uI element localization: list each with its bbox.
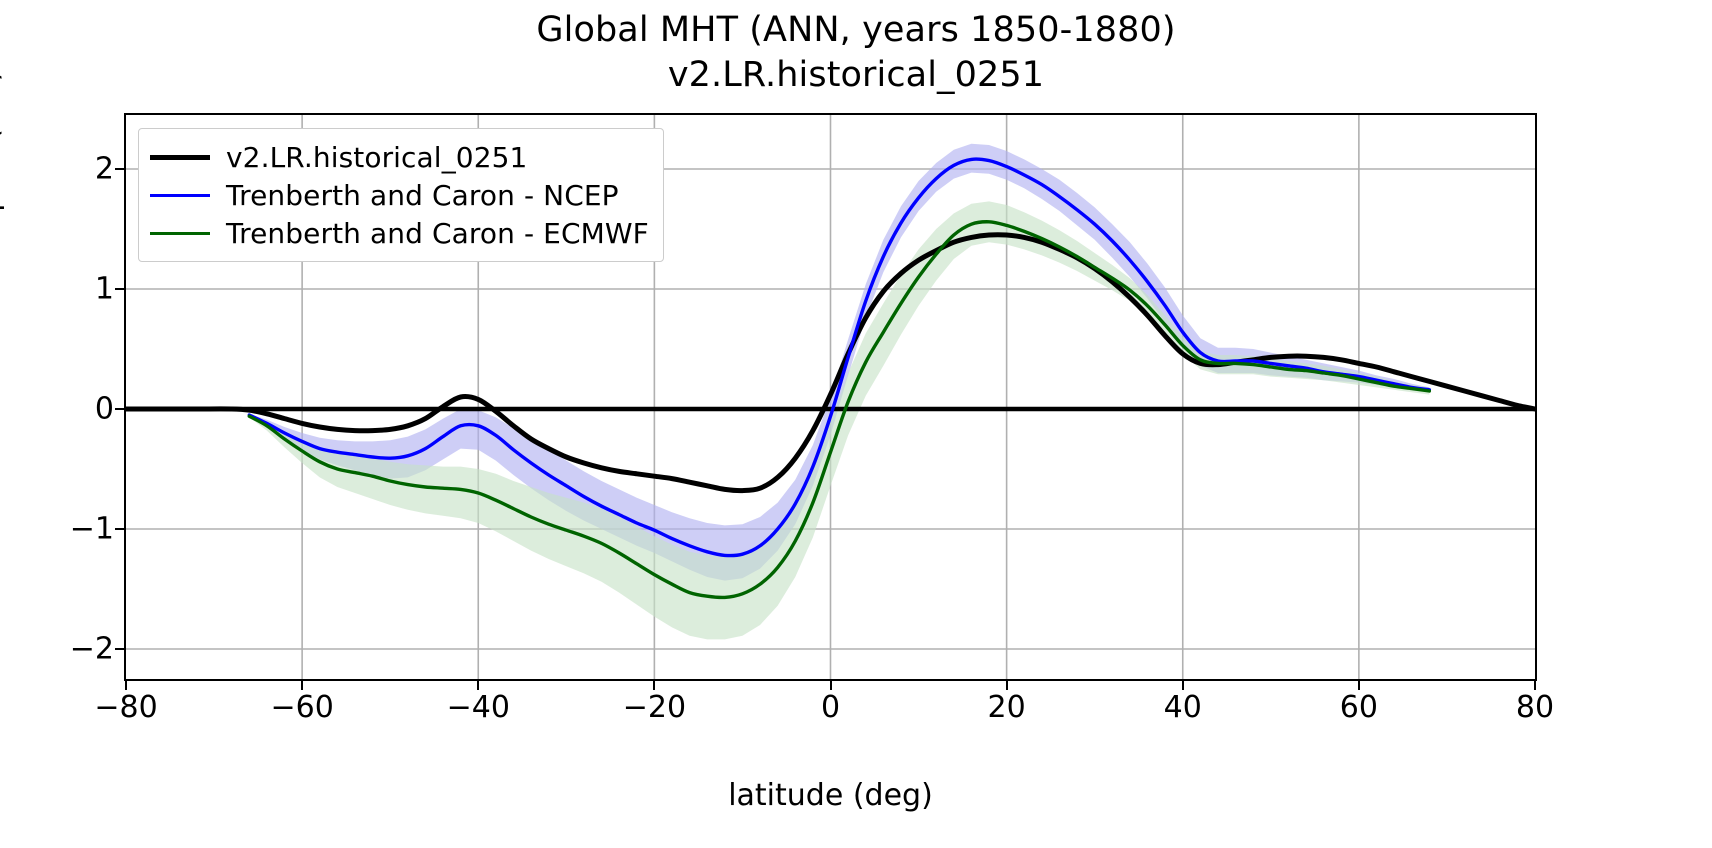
x-axis-label: latitude (deg) [124, 778, 1537, 813]
figure-canvas: Global MHT (ANN, years 1850-1880) v2.LR.… [0, 0, 1712, 848]
x-tick-mark [1006, 681, 1008, 690]
x-tick-mark [301, 681, 303, 690]
chart-title: Global MHT (ANN, years 1850-1880) v2.LR.… [0, 8, 1712, 98]
x-tick-label: −20 [623, 690, 686, 725]
x-tick-mark [1534, 681, 1536, 690]
y-tick-label: −1 [70, 512, 114, 547]
y-tick-mark [115, 408, 124, 410]
x-tick-mark [1182, 681, 1184, 690]
y-tick-label: 0 [95, 392, 114, 427]
legend-item-ncep[interactable]: Trenberth and Caron - NCEP [150, 176, 649, 214]
legend-swatch-ncep [150, 194, 210, 197]
x-tick-label: 40 [1164, 690, 1202, 725]
chart-title-line2: v2.LR.historical_0251 [0, 53, 1712, 98]
legend-label-ecmwf: Trenberth and Caron - ECMWF [226, 217, 649, 250]
y-axis-label: meridional heat transport (PW) [0, 0, 6, 743]
legend-label-model: v2.LR.historical_0251 [226, 141, 527, 174]
legend-label-ncep: Trenberth and Caron - NCEP [226, 179, 619, 212]
y-tick-label: 1 [95, 272, 114, 307]
x-tick-label: 60 [1340, 690, 1378, 725]
y-tick-label: 2 [95, 152, 114, 187]
legend-item-model[interactable]: v2.LR.historical_0251 [150, 138, 649, 176]
y-tick-mark [115, 288, 124, 290]
x-tick-mark [1358, 681, 1360, 690]
x-tick-mark [830, 681, 832, 690]
x-tick-mark [477, 681, 479, 690]
y-tick-mark [115, 648, 124, 650]
y-tick-label: −2 [70, 632, 114, 667]
legend-swatch-model [150, 155, 210, 160]
x-tick-label: −40 [447, 690, 510, 725]
x-tick-label: 20 [988, 690, 1026, 725]
x-tick-label: 80 [1516, 690, 1554, 725]
chart-legend: v2.LR.historical_0251 Trenberth and Caro… [138, 128, 664, 262]
x-tick-mark [653, 681, 655, 690]
legend-swatch-ecmwf [150, 232, 210, 235]
y-tick-mark [115, 168, 124, 170]
y-tick-mark [115, 528, 124, 530]
x-tick-label: 0 [821, 690, 840, 725]
chart-title-line1: Global MHT (ANN, years 1850-1880) [0, 8, 1712, 53]
plot-area: v2.LR.historical_0251 Trenberth and Caro… [124, 113, 1537, 681]
x-tick-label: −60 [270, 690, 333, 725]
x-tick-mark [125, 681, 127, 690]
x-tick-label: −80 [94, 690, 157, 725]
legend-item-ecmwf[interactable]: Trenberth and Caron - ECMWF [150, 214, 649, 252]
